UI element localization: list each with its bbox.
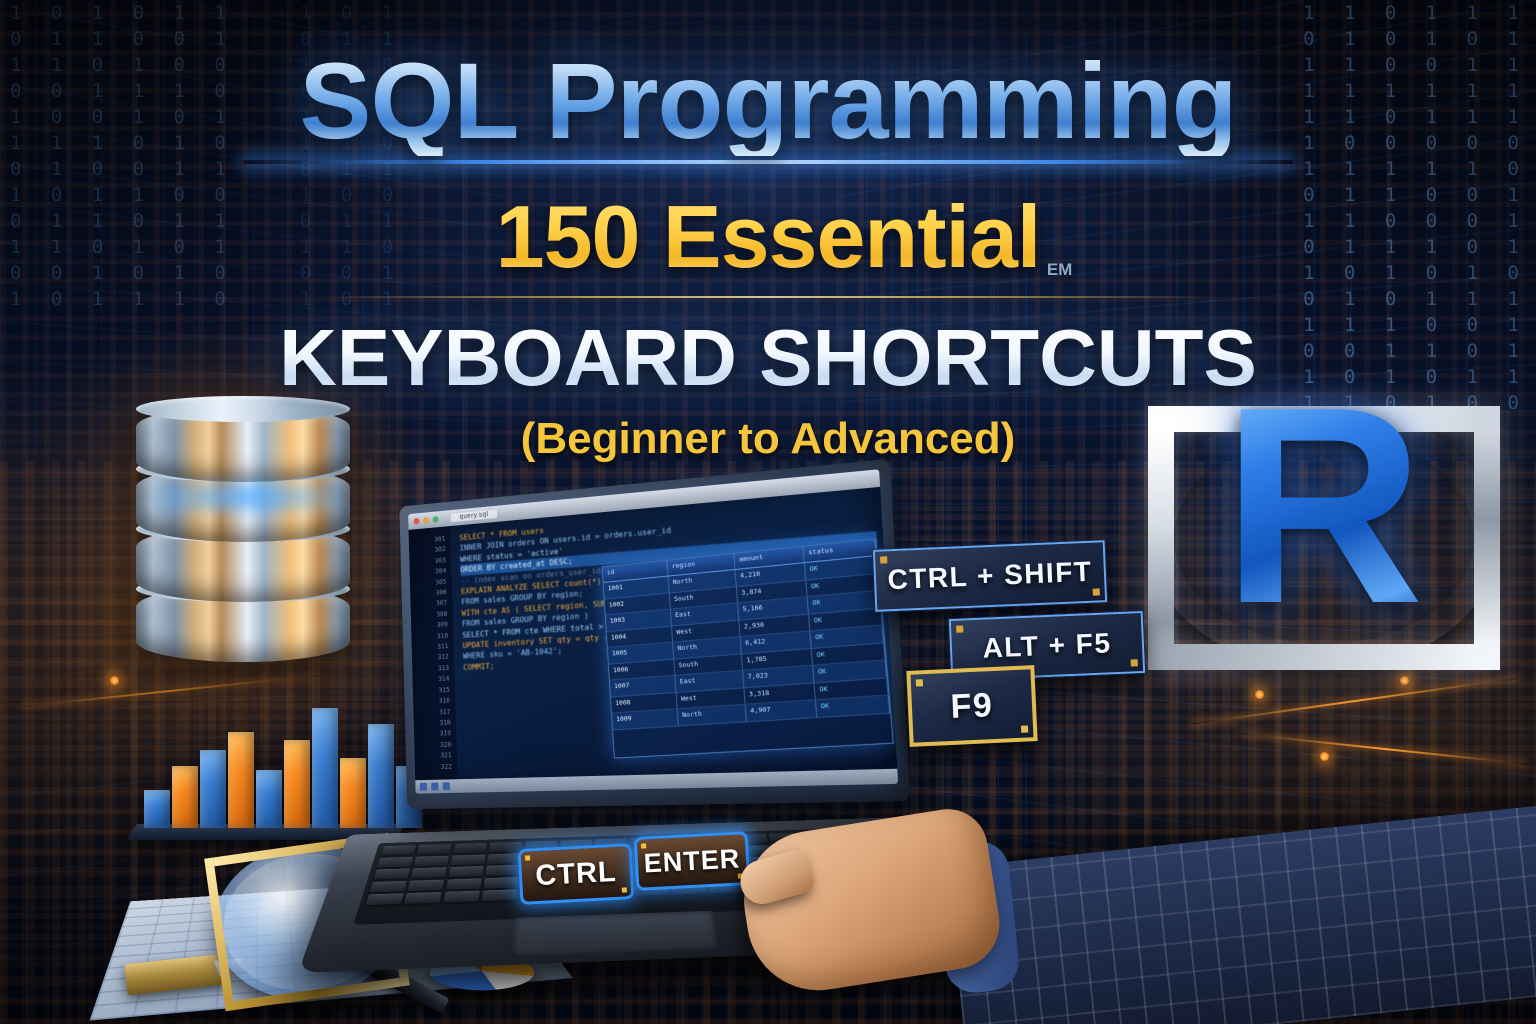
laptop-lid: query.sql 301 302 303 304 305 306 307 30… bbox=[399, 459, 910, 809]
start-icon[interactable] bbox=[420, 783, 427, 791]
keyboard-key[interactable] bbox=[408, 880, 444, 892]
folder-icon[interactable] bbox=[431, 783, 438, 791]
keyboard-key[interactable] bbox=[487, 853, 521, 864]
headline-tagline: (Beginner to Advanced) bbox=[0, 414, 1536, 464]
graph-node bbox=[1320, 752, 1329, 761]
bar-chart-bar bbox=[256, 770, 282, 828]
laptop-screen: query.sql 301 302 303 304 305 306 307 30… bbox=[408, 469, 898, 793]
keyboard-key[interactable] bbox=[366, 893, 404, 905]
keyboard-key[interactable] bbox=[451, 854, 485, 865]
poster-canvas: 1 0 1 0 1 1 0 1 1 0 0 1 1 1 0 1 0 0 0 0 … bbox=[0, 0, 1536, 1024]
headline-subject: KEYBOARD SHORTCUTS bbox=[0, 312, 1536, 404]
terminal-icon[interactable] bbox=[443, 782, 450, 790]
keyboard-key[interactable] bbox=[377, 857, 413, 868]
page-title: SQL Programming bbox=[0, 46, 1536, 156]
card-corner-accent bbox=[880, 556, 887, 563]
headline-count: 150 Essential EM bbox=[496, 186, 1041, 288]
line-number: 321 bbox=[415, 751, 452, 763]
card-corner-accent bbox=[1131, 659, 1138, 666]
bar-chart-bar bbox=[228, 732, 254, 828]
key-ctrl-label: CTRL bbox=[535, 855, 618, 892]
key-corner-accent bbox=[641, 843, 646, 848]
cell: OK bbox=[816, 695, 890, 716]
ide-body: 301 302 303 304 305 306 307 308 309 310 … bbox=[409, 487, 899, 794]
keyboard-key[interactable] bbox=[453, 843, 487, 853]
database-highlight-glow bbox=[156, 480, 336, 514]
card-corner-accent bbox=[956, 625, 963, 632]
title-block: SQL Programming 150 Essential EM KEYBOAR… bbox=[0, 46, 1536, 464]
keyboard-key[interactable] bbox=[373, 869, 409, 880]
keyboard-key[interactable] bbox=[484, 877, 519, 889]
keyboard-key[interactable] bbox=[446, 878, 482, 890]
keyboard-key[interactable] bbox=[381, 845, 416, 855]
key-enter[interactable]: ENTER bbox=[634, 831, 751, 891]
line-number: 322 bbox=[415, 762, 452, 774]
keyboard-key[interactable] bbox=[414, 856, 449, 867]
query-results-panel[interactable]: id region amount status 1001 North 4,210… bbox=[602, 538, 894, 758]
tab-query-sql[interactable]: query.sql bbox=[451, 509, 498, 522]
card-corner-accent bbox=[916, 679, 923, 686]
graph-node bbox=[1255, 690, 1264, 699]
bar-chart-bar bbox=[172, 766, 198, 828]
maximize-icon[interactable] bbox=[432, 516, 438, 523]
shortcut-card-ctrl-shift[interactable]: CTRL + SHIFT bbox=[873, 540, 1107, 612]
keyboard-key[interactable] bbox=[482, 890, 518, 902]
cell: North bbox=[678, 705, 747, 725]
keyboard-key[interactable] bbox=[448, 866, 483, 877]
bar-chart-bar bbox=[200, 750, 226, 828]
graph-node bbox=[110, 676, 119, 685]
title-divider-gold bbox=[318, 296, 1218, 298]
key-corner-accent bbox=[525, 855, 530, 860]
headline-superscript: EM bbox=[1047, 260, 1073, 280]
graph-node bbox=[1400, 676, 1409, 685]
keyboard-key[interactable] bbox=[370, 881, 407, 893]
shortcut-card-label: F9 bbox=[950, 686, 994, 727]
keyboard-key[interactable] bbox=[443, 891, 479, 903]
keyboard-key[interactable] bbox=[489, 842, 522, 852]
card-corner-accent bbox=[1021, 725, 1028, 732]
key-ctrl[interactable]: CTRL bbox=[518, 843, 635, 905]
keyboard-key[interactable] bbox=[411, 867, 447, 878]
close-icon[interactable] bbox=[413, 518, 419, 525]
shortcut-card-label: CTRL + SHIFT bbox=[887, 556, 1093, 597]
shortcut-card-f9[interactable]: F9 bbox=[906, 665, 1037, 747]
cell: 4,907 bbox=[746, 700, 818, 721]
keyboard-key[interactable] bbox=[404, 892, 441, 904]
headline-count-text: 150 Essential bbox=[496, 187, 1041, 286]
card-corner-accent bbox=[1093, 588, 1100, 595]
keyboard-key[interactable] bbox=[417, 844, 451, 854]
bar-chart-bar bbox=[284, 740, 310, 828]
keyboard-key[interactable] bbox=[485, 865, 519, 876]
cell: 1009 bbox=[612, 709, 679, 729]
laptop-trackpad[interactable] bbox=[511, 911, 719, 958]
key-corner-accent bbox=[622, 887, 627, 892]
minimize-icon[interactable] bbox=[423, 517, 429, 524]
key-enter-label: ENTER bbox=[643, 843, 741, 879]
shortcut-card-label: ALT + F5 bbox=[982, 627, 1112, 664]
bar-chart-bar bbox=[144, 790, 170, 828]
